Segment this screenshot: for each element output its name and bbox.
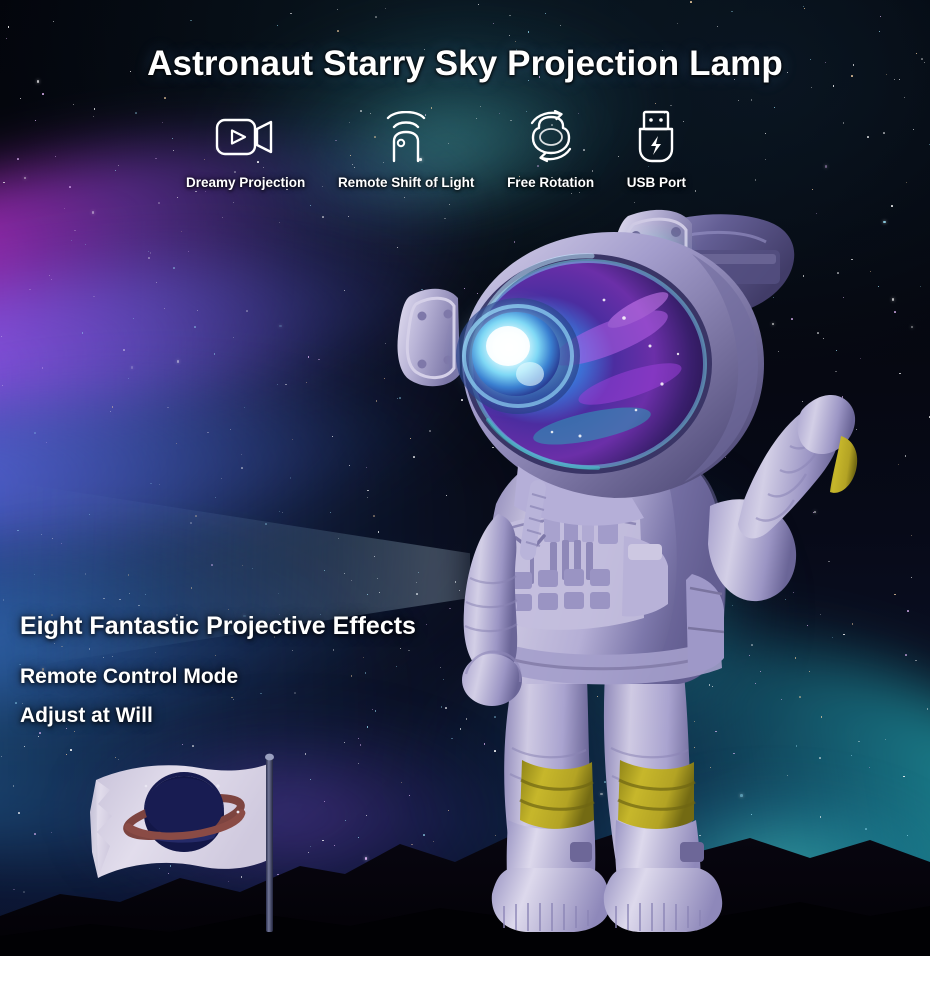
marketing-copy-block: Eight Fantastic Projective Effects Remot… xyxy=(20,612,416,728)
feature-label: Dreamy Projection xyxy=(186,175,305,190)
astronaut-projector-lamp xyxy=(392,188,862,956)
feature-label: USB Port xyxy=(627,175,686,190)
page-title: Astronaut Starry Sky Projection Lamp xyxy=(0,44,930,84)
helmet-left-ear-module xyxy=(398,289,461,387)
feature-icon-row: Dreamy Projection Remote Shift of Light xyxy=(186,108,686,190)
feature-item-usb-port: USB Port xyxy=(627,108,686,190)
copy-line-remote: Remote Control Mode xyxy=(20,665,416,689)
remote-control-icon xyxy=(381,108,431,166)
video-projection-icon xyxy=(215,108,277,166)
copy-line-adjust: Adjust at Will xyxy=(20,704,416,728)
boot-left xyxy=(492,868,610,932)
feature-item-free-rotation: Free Rotation xyxy=(507,108,594,190)
accent-band-right xyxy=(618,760,695,829)
advertisement-banner: Astronaut Starry Sky Projection Lamp Dre… xyxy=(0,0,930,956)
accent-band-left xyxy=(520,760,594,829)
feature-item-dreamy-projection: Dreamy Projection xyxy=(186,108,305,190)
feature-label: Free Rotation xyxy=(507,175,594,190)
copy-line-effects: Eight Fantastic Projective Effects xyxy=(20,612,416,641)
feature-label: Remote Shift of Light xyxy=(338,175,474,190)
feature-item-remote-shift-of-light: Remote Shift of Light xyxy=(338,108,474,190)
saturn-planet-flag xyxy=(88,752,308,937)
usb-port-icon xyxy=(635,108,677,166)
rotation-helmet-icon xyxy=(522,108,580,166)
boot-right xyxy=(604,868,722,932)
